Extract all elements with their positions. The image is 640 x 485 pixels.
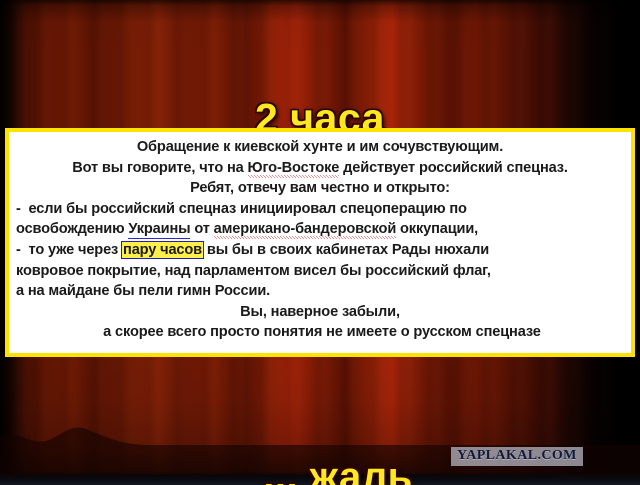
message-text: а скорее всего просто понятия не имеете …	[99, 324, 540, 340]
message-body: Обращение к киевской хунте и им сочувств…	[9, 132, 631, 343]
message-line: освобождению Украины от американо-бандер…	[16, 219, 624, 240]
message-line: Ребят, отвечу вам честно и открыто:	[16, 178, 624, 199]
message-line: а на майдане бы пели гимн России.	[16, 281, 624, 302]
message-text: действует российский спецназ.	[339, 160, 568, 176]
message-line: ковровое покрытие, над парламентом висел…	[16, 261, 624, 282]
message-text: Вот вы говорите, что на	[72, 160, 247, 176]
poster-image: 2 часа и хунта - мордой в пол Обращение …	[0, 0, 640, 485]
spellcheck-underlined-word: американо-бандеровской	[214, 221, 397, 239]
message-line: - то уже через пару часов вы бы в своих …	[16, 240, 624, 261]
message-text: от	[190, 221, 213, 237]
message-text: - если бы российский спецназ инициировал…	[16, 201, 467, 217]
message-text: Вы, наверное забыли,	[240, 304, 400, 320]
message-text: - то уже через	[16, 242, 122, 258]
message-text: а на майдане бы пели гимн России.	[16, 283, 270, 299]
watermark-badge: YAPLAKAL.COM	[451, 447, 583, 466]
message-text: Обращение к киевской хунте и им сочувств…	[137, 139, 503, 155]
message-text: вы бы в своих кабинетах Рады нюхали	[203, 242, 489, 258]
footline-text: ... жаль - команды не было ...	[0, 374, 640, 485]
message-text: оккупации,	[396, 221, 478, 237]
message-line: Вы, наверное забыли,	[16, 302, 624, 323]
message-text: Ребят, отвечу вам честно и открыто:	[190, 180, 450, 196]
highlighted-phrase: пару часов	[122, 242, 203, 258]
blue-underlined-word: Украины	[128, 221, 190, 239]
message-text: освобождению	[16, 221, 128, 237]
spellcheck-underlined-word: Юго-Востоке	[248, 160, 340, 178]
message-card: Обращение к киевской хунте и им сочувств…	[5, 128, 635, 357]
message-text: ковровое покрытие, над парламентом висел…	[16, 263, 491, 279]
message-line: Вот вы говорите, что на Юго-Востоке дейс…	[16, 158, 624, 179]
message-line: а скорее всего просто понятия не имеете …	[16, 322, 624, 343]
message-line: - если бы российский спецназ инициировал…	[16, 199, 624, 220]
message-line: Обращение к киевской хунте и им сочувств…	[16, 137, 624, 158]
